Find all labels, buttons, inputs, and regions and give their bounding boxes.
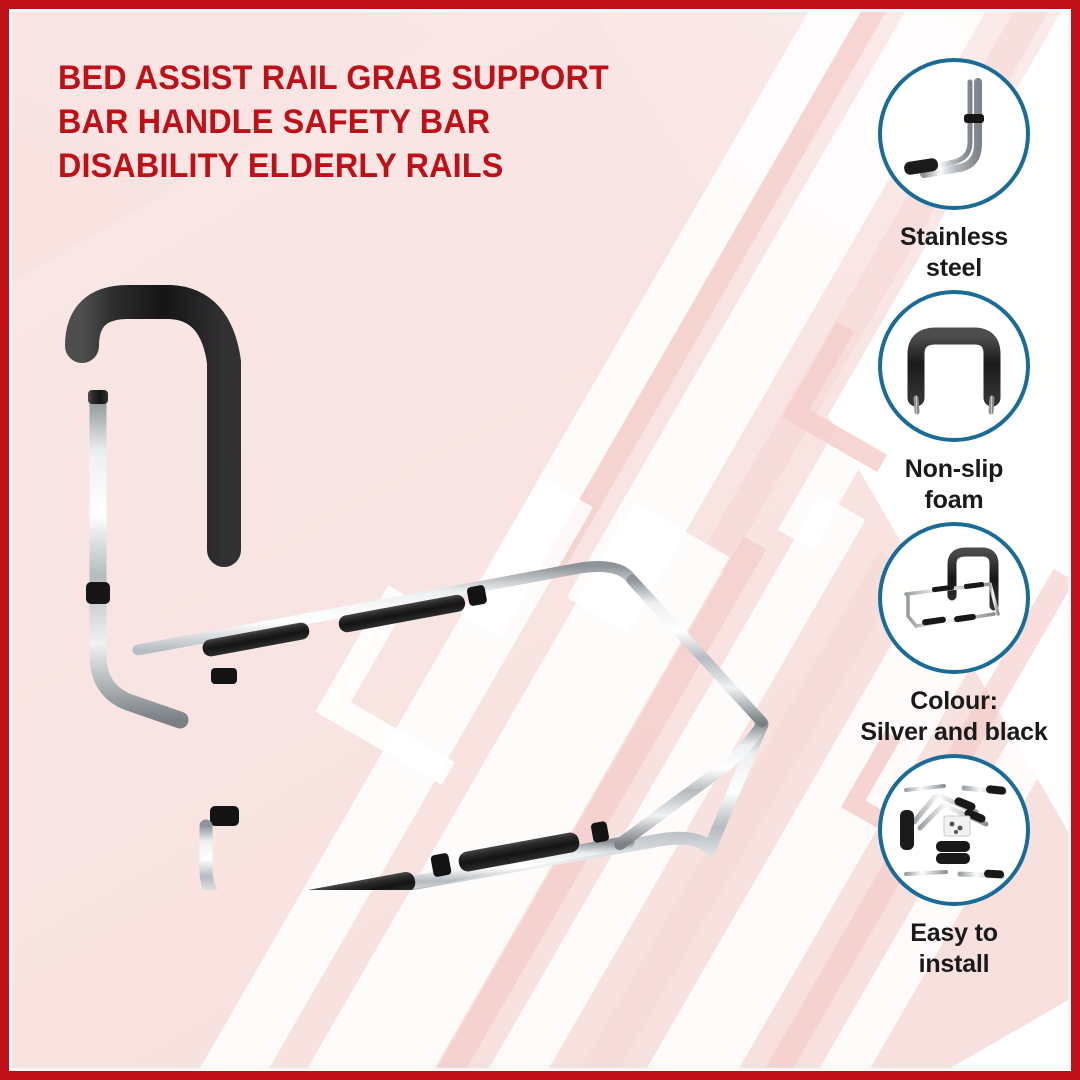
feature-callout-non-slip-foam: Non-slip foam bbox=[842, 290, 1066, 516]
feature-circle bbox=[878, 290, 1030, 442]
assembly-parts-kit-icon bbox=[890, 766, 1018, 894]
product-listing-image: BED ASSIST RAIL GRAB SUPPORT BAR HANDLE … bbox=[0, 0, 1080, 1080]
feature-label-line-1: Easy to bbox=[839, 918, 1069, 949]
feature-circle bbox=[878, 58, 1030, 210]
feature-label-line-1: Colour: bbox=[839, 686, 1069, 717]
non-slip-foam-handle-icon bbox=[890, 302, 1018, 430]
page-title-line-2: BAR HANDLE SAFETY BAR bbox=[58, 100, 723, 144]
feature-callout-colour: Colour: Silver and black bbox=[842, 522, 1066, 748]
silver-and-black-rail-icon bbox=[890, 534, 1018, 662]
feature-callout-stainless-steel: Stainless steel bbox=[842, 58, 1066, 284]
feature-label-line-2: steel bbox=[839, 253, 1069, 284]
feature-label-line-2: foam bbox=[839, 485, 1069, 516]
stainless-steel-corner-tube-icon bbox=[890, 70, 1018, 198]
feature-label: Easy to install bbox=[839, 918, 1069, 980]
page-title-line-1: BED ASSIST RAIL GRAB SUPPORT bbox=[58, 56, 723, 100]
feature-label: Non-slip foam bbox=[839, 454, 1069, 516]
page-title-line-3: DISABILITY ELDERLY RAILS bbox=[58, 144, 723, 188]
feature-callout-easy-install: Easy to install bbox=[842, 754, 1066, 980]
feature-circle bbox=[878, 522, 1030, 674]
feature-circle bbox=[878, 754, 1030, 906]
feature-label-line-1: Non-slip bbox=[839, 454, 1069, 485]
feature-label-line-1: Stainless bbox=[839, 222, 1069, 253]
feature-label: Colour: Silver and black bbox=[839, 686, 1069, 748]
feature-label-line-2: Silver and black bbox=[839, 717, 1069, 748]
feature-label-line-2: install bbox=[839, 949, 1069, 980]
page-title: BED ASSIST RAIL GRAB SUPPORT BAR HANDLE … bbox=[58, 56, 723, 188]
hero-product-image bbox=[20, 250, 850, 890]
feature-label: Stainless steel bbox=[839, 222, 1069, 284]
feature-callout-list: Stainless steel bbox=[842, 58, 1066, 986]
